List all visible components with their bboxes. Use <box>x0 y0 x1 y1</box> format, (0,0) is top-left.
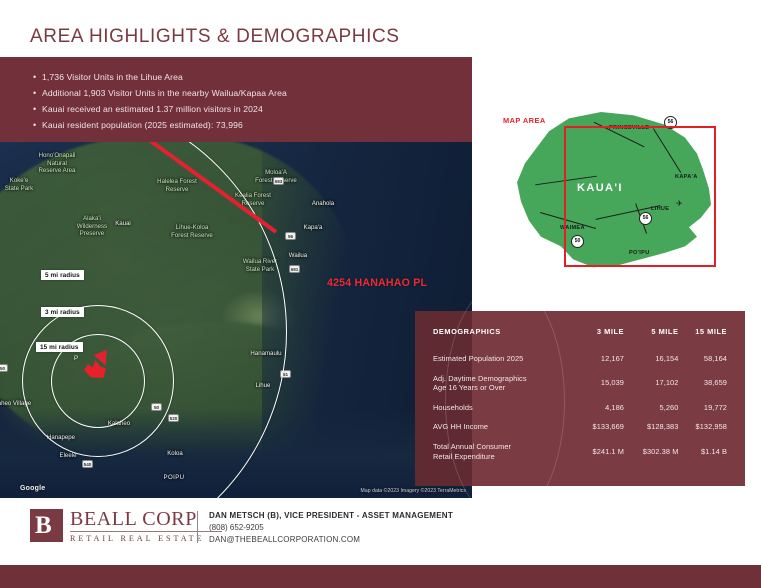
inset-map-area-box <box>564 126 716 267</box>
table-header-row: DEMOGRAPHICS 3 MILE 5 MILE 15 MILE <box>433 327 727 349</box>
demographics-panel: DEMOGRAPHICS 3 MILE 5 MILE 15 MILE Estim… <box>415 311 745 486</box>
highlights-list: •1,736 Visitor Units in the Lihue Area•A… <box>33 69 287 133</box>
demographics-table: DEMOGRAPHICS 3 MILE 5 MILE 15 MILE Estim… <box>433 327 727 466</box>
logo-mark-letter: B <box>35 513 52 538</box>
table-cell-value: 4,186 <box>576 398 624 418</box>
radius-label-15mi: 15 mi radius <box>36 342 83 352</box>
table-cell-value: 19,772 <box>678 398 727 418</box>
footer: B BEALL CORP RETAIL REAL ESTATE DAN METS… <box>0 500 761 565</box>
table-cell-value: 15,039 <box>576 369 624 398</box>
table-cell-value: $128,383 <box>624 417 678 437</box>
radius-label-5mi: 5 mi radius <box>41 270 84 280</box>
contact-block: DAN METSCH (B), VICE PRESIDENT - ASSET M… <box>209 510 453 546</box>
table-cell-value: $302.38 M <box>624 437 678 466</box>
bullet-dot-icon: • <box>33 85 42 101</box>
highlight-item: •Additional 1,903 Visitor Units in the n… <box>33 85 287 101</box>
table-cell-value: 12,167 <box>576 349 624 369</box>
address-callout: 4254 HANAHAO PL <box>327 277 427 289</box>
site-marker-label: P <box>74 356 78 362</box>
highway-shield-icon: 581 <box>289 265 300 273</box>
table-cell-value: 16,154 <box>624 349 678 369</box>
footer-vertical-divider <box>197 511 198 543</box>
table-cell-value: $133,669 <box>576 417 624 437</box>
contact-name: DAN METSCH (B), VICE PRESIDENT - ASSET M… <box>209 510 453 522</box>
table-header-15mile: 15 MILE <box>678 327 727 349</box>
highlight-item: •Kauai resident population (2025 estimat… <box>33 117 287 133</box>
highway-shield-icon: 583 <box>273 177 284 185</box>
google-logo: Google <box>20 485 45 492</box>
table-cell-label: Households <box>433 398 576 418</box>
bullet-dot-icon: • <box>33 69 42 85</box>
logo-divider-rule <box>70 531 222 532</box>
map-attribution: Map data ©2023 Imagery ©2023 TerraMetric… <box>361 488 466 494</box>
table-header-3mile: 3 MILE <box>576 327 624 349</box>
table-row: Estimated Population 202512,16716,15458,… <box>433 349 727 369</box>
page-title: AREA HIGHLIGHTS & DEMOGRAPHICS <box>30 26 400 48</box>
table-row: Total Annual Consumer Retail Expenditure… <box>433 437 727 466</box>
table-header-demographics: DEMOGRAPHICS <box>433 327 576 349</box>
highway-shield-icon: 56 <box>285 232 296 240</box>
contact-phone[interactable]: (808) 652-9205 <box>209 522 453 534</box>
table-cell-label: AVG HH Income <box>433 417 576 437</box>
radius-label-3mi: 3 mi radius <box>41 307 84 317</box>
satellite-map[interactable]: Hono'Onapali Natural Reserve AreaKoke'e … <box>0 142 472 498</box>
inset-map-area-label: MAP AREA <box>503 116 546 125</box>
table-cell-value: $1.14 B <box>678 437 727 466</box>
inset-locator-map: MAP AREA KAUA'I PRINCEVILLEKAPA'ALIHUEWA… <box>495 108 745 278</box>
highlights-panel: •1,736 Visitor Units in the Lihue Area•A… <box>0 57 472 143</box>
table-cell-value: 5,260 <box>624 398 678 418</box>
table-row: Households4,1865,26019,772 <box>433 398 727 418</box>
bottom-accent-bar <box>0 565 761 588</box>
table-header-5mile: 5 MILE <box>624 327 678 349</box>
bullet-dot-icon: • <box>33 101 42 117</box>
logo-company-name: BEALL CORP <box>70 509 222 529</box>
table-cell-value: 58,164 <box>678 349 727 369</box>
table-cell-label: Estimated Population 2025 <box>433 349 576 369</box>
table-row: Adj. Daytime Demographics Age 16 Years o… <box>433 369 727 398</box>
company-logo[interactable]: B BEALL CORP RETAIL REAL ESTATE <box>30 509 222 543</box>
logo-tagline: RETAIL REAL ESTATE <box>70 534 222 543</box>
logo-mark-icon: B <box>30 509 63 542</box>
highlight-item-text: 1,736 Visitor Units in the Lihue Area <box>42 69 183 85</box>
demographics-table-body: Estimated Population 202512,16716,15458,… <box>433 349 727 466</box>
table-cell-value: $241.1 M <box>576 437 624 466</box>
table-cell-value: 38,659 <box>678 369 727 398</box>
table-cell-label: Adj. Daytime Demographics Age 16 Years o… <box>433 369 576 398</box>
table-cell-label: Total Annual Consumer Retail Expenditure <box>433 437 576 466</box>
highlight-item-text: Kauai received an estimated 1.37 million… <box>42 101 263 117</box>
contact-email[interactable]: DAN@THEBEALLCORPORATION.COM <box>209 534 453 546</box>
highlight-item-text: Kauai resident population (2025 estimate… <box>42 117 243 133</box>
highlight-item: •Kauai received an estimated 1.37 millio… <box>33 101 287 117</box>
table-row: AVG HH Income$133,669$128,383$132,958 <box>433 417 727 437</box>
bullet-dot-icon: • <box>33 117 42 133</box>
table-cell-value: 17,102 <box>624 369 678 398</box>
table-cell-value: $132,958 <box>678 417 727 437</box>
highlight-item: •1,736 Visitor Units in the Lihue Area <box>33 69 287 85</box>
highlight-item-text: Additional 1,903 Visitor Units in the ne… <box>42 85 287 101</box>
